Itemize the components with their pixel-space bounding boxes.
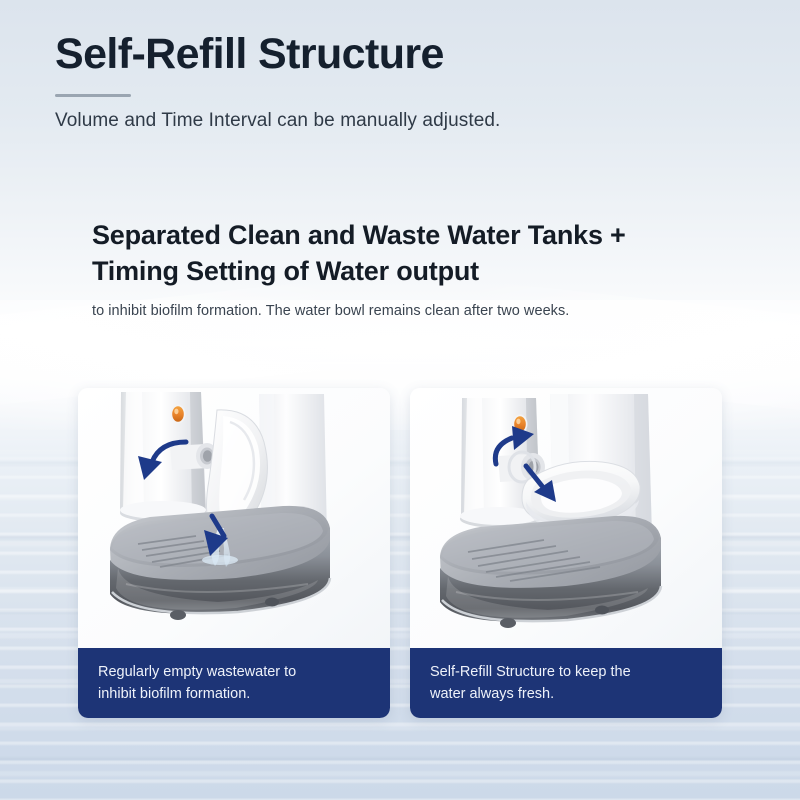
title-divider (55, 94, 131, 97)
caption-line-1: Self-Refill Structure to keep the (430, 661, 704, 683)
headline-line-1: Separated Clean and Waste Water Tanks + (92, 218, 732, 254)
header: Self-Refill Structure Volume and Time In… (55, 32, 755, 132)
feature-headline: Separated Clean and Waste Water Tanks + … (92, 218, 732, 290)
caption-line-1: Regularly empty wastewater to (98, 661, 372, 683)
headline-line-2: Timing Setting of Water output (92, 254, 732, 290)
card-caption-left: Regularly empty wastewater to inhibit bi… (78, 648, 390, 718)
fountain-bowl-attached-photo (410, 388, 722, 648)
caption-line-2: inhibit biofilm formation. (98, 683, 372, 705)
horizon-line (0, 362, 800, 364)
feature-card-left: Regularly empty wastewater to inhibit bi… (78, 388, 390, 718)
card-caption-right: Self-Refill Structure to keep the water … (410, 648, 722, 718)
caption-line-2: water always fresh. (430, 683, 704, 705)
feature-subcopy: to inhibit biofilm formation. The water … (92, 303, 732, 319)
product-feature-page: Self-Refill Structure Volume and Time In… (0, 0, 800, 800)
headline-block: Separated Clean and Waste Water Tanks + … (92, 218, 732, 319)
feature-card-row: Regularly empty wastewater to inhibit bi… (78, 388, 722, 718)
feature-card-right: Self-Refill Structure to keep the water … (410, 388, 722, 718)
page-title: Self-Refill Structure (55, 32, 755, 78)
page-subtitle: Volume and Time Interval can be manually… (55, 110, 755, 132)
fountain-pouring-wastewater-photo (78, 388, 390, 648)
